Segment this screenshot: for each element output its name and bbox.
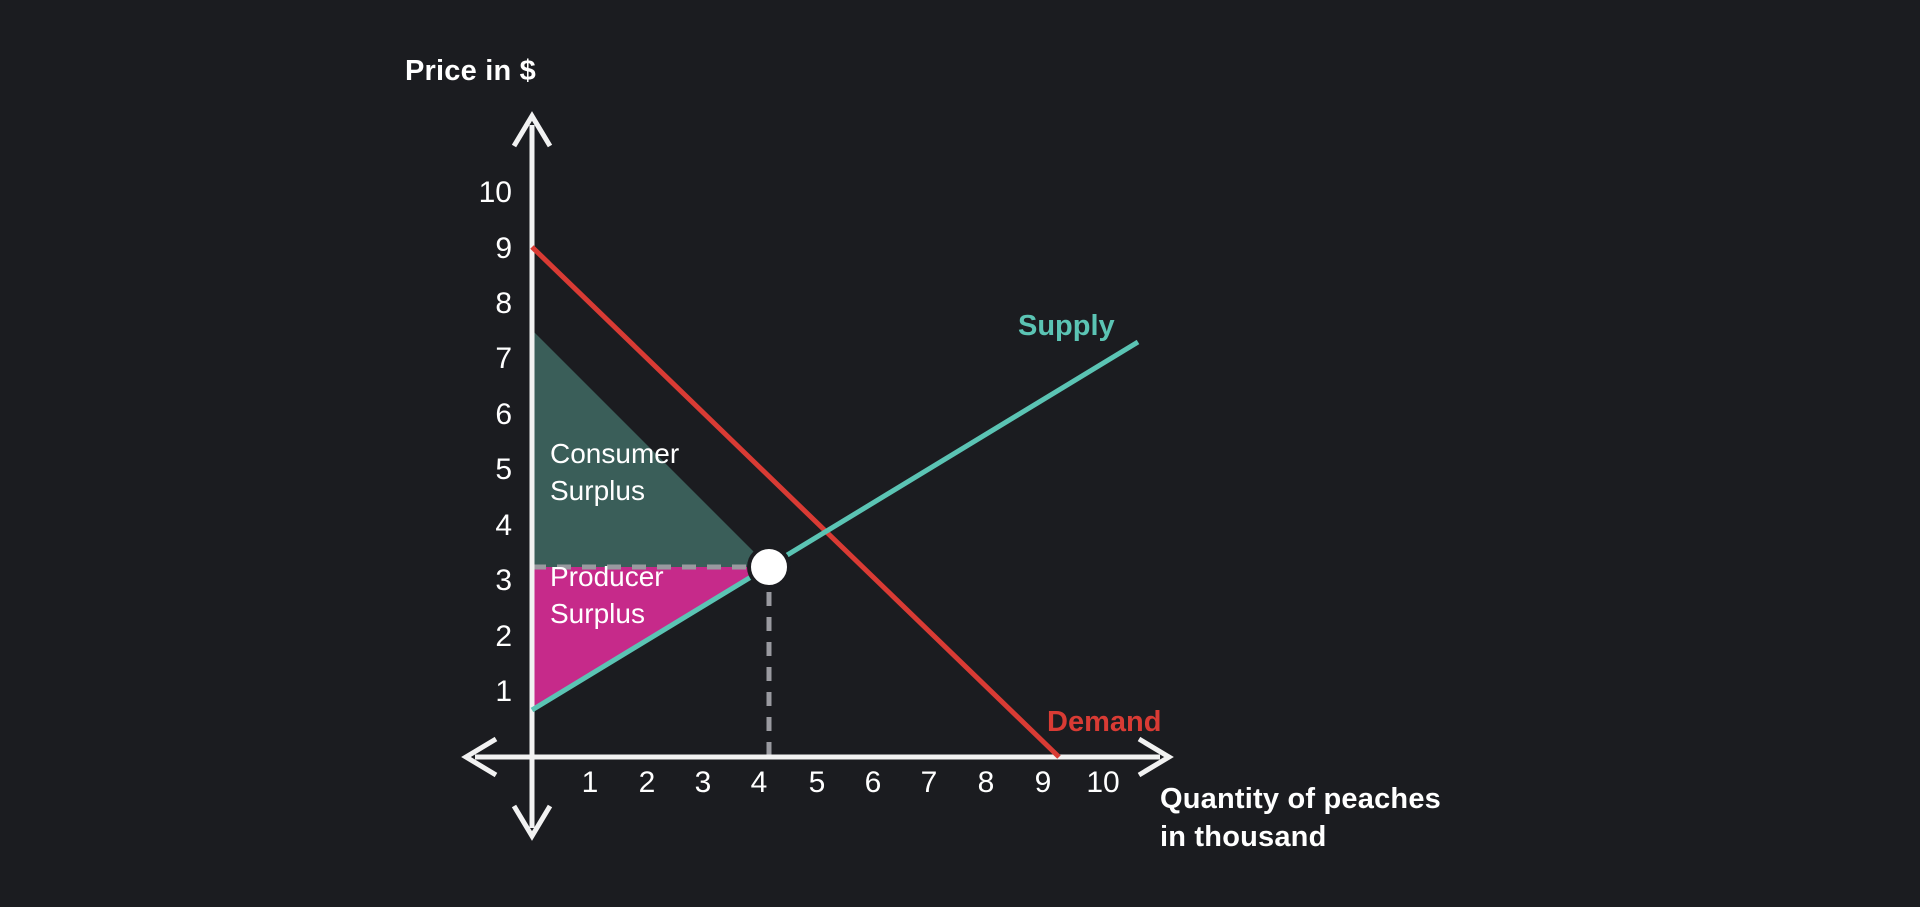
supply-series-label: Supply: [1018, 310, 1115, 342]
chart-canvas: 10 9 8 7 6 5 4 3 2 1 1 2 3 4 5 6 7 8 9 1…: [0, 0, 1920, 907]
x-tick-label-10: 10: [1086, 766, 1119, 799]
x-tick-label-6: 6: [865, 766, 882, 799]
x-axis-title-line1: Quantity of peaches: [1160, 783, 1441, 815]
y-axis-title: Price in $: [405, 55, 536, 87]
y-tick-label-3: 3: [495, 564, 512, 597]
x-tick-label-4: 4: [751, 766, 768, 799]
y-tick-label-10: 10: [479, 176, 512, 209]
y-tick-label-2: 2: [495, 620, 512, 653]
producer-surplus-label-line2: Surplus: [550, 598, 645, 629]
y-tick-label-5: 5: [495, 453, 512, 486]
x-tick-label-8: 8: [978, 766, 995, 799]
consumer-surplus-label-line1: Consumer: [550, 438, 679, 469]
x-tick-label-1: 1: [582, 766, 599, 799]
x-tick-label-7: 7: [921, 766, 938, 799]
consumer-surplus-label-line2: Surplus: [550, 475, 645, 506]
x-tick-label-5: 5: [809, 766, 826, 799]
supply-demand-chart: 10 9 8 7 6 5 4 3 2 1 1 2 3 4 5 6 7 8 9 1…: [0, 0, 1920, 907]
x-tick-label-3: 3: [695, 766, 712, 799]
y-tick-label-6: 6: [495, 398, 512, 431]
y-tick-label-4: 4: [495, 509, 512, 542]
y-tick-label-7: 7: [495, 342, 512, 375]
x-axis-title-line2: in thousand: [1160, 821, 1327, 853]
producer-surplus-label-line1: Producer: [550, 561, 664, 592]
x-tick-label-9: 9: [1035, 766, 1052, 799]
y-tick-label-8: 8: [495, 287, 512, 320]
demand-series-label: Demand: [1047, 706, 1161, 738]
y-tick-label-1: 1: [495, 675, 512, 708]
x-tick-label-2: 2: [639, 766, 656, 799]
equilibrium-point: [749, 547, 789, 587]
y-tick-label-9: 9: [495, 232, 512, 265]
